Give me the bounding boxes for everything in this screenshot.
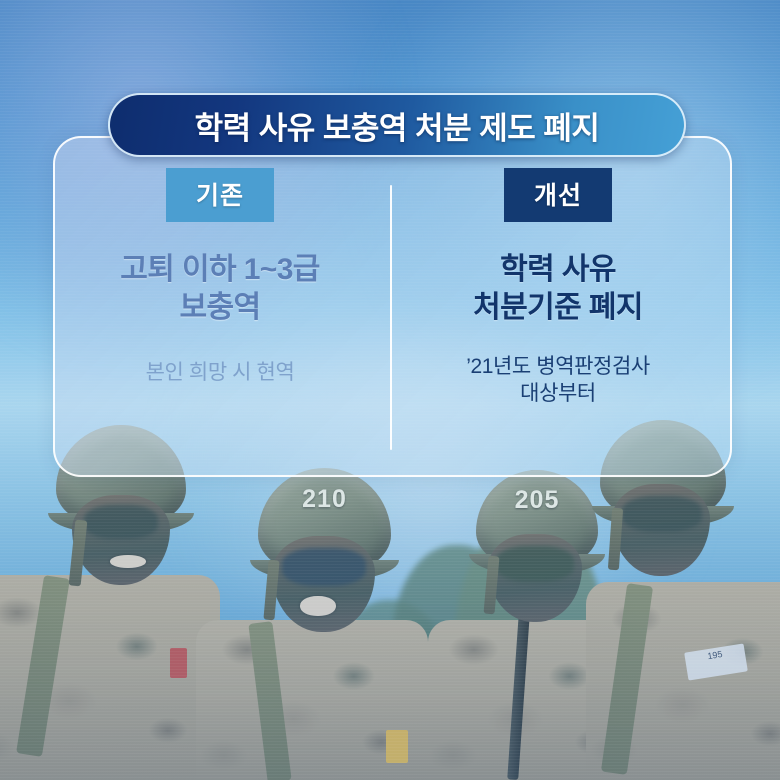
infographic-card: 210 205 195 xyxy=(0,0,780,780)
column-before: 기존 고퇴 이하 1~3급 보충역 본인 희망 시 현역 xyxy=(55,168,385,386)
after-main-text: 학력 사유 처분기준 폐지 xyxy=(393,251,723,327)
badge-after: 개선 xyxy=(504,168,612,222)
page-title: 학력 사유 보충역 처분 제도 폐지 xyxy=(195,103,600,148)
title-pill: 학력 사유 보충역 처분 제도 폐지 xyxy=(108,93,686,157)
before-main-text: 고퇴 이하 1~3급 보충역 xyxy=(55,251,385,327)
before-sub-text: 본인 희망 시 현역 xyxy=(55,359,385,386)
badge-before: 기존 xyxy=(166,168,274,222)
after-sub-text: ’21년도 병역판정검사 대상부터 xyxy=(393,353,723,408)
column-divider xyxy=(390,185,392,450)
column-after: 개선 학력 사유 처분기준 폐지 ’21년도 병역판정검사 대상부터 xyxy=(393,168,723,407)
